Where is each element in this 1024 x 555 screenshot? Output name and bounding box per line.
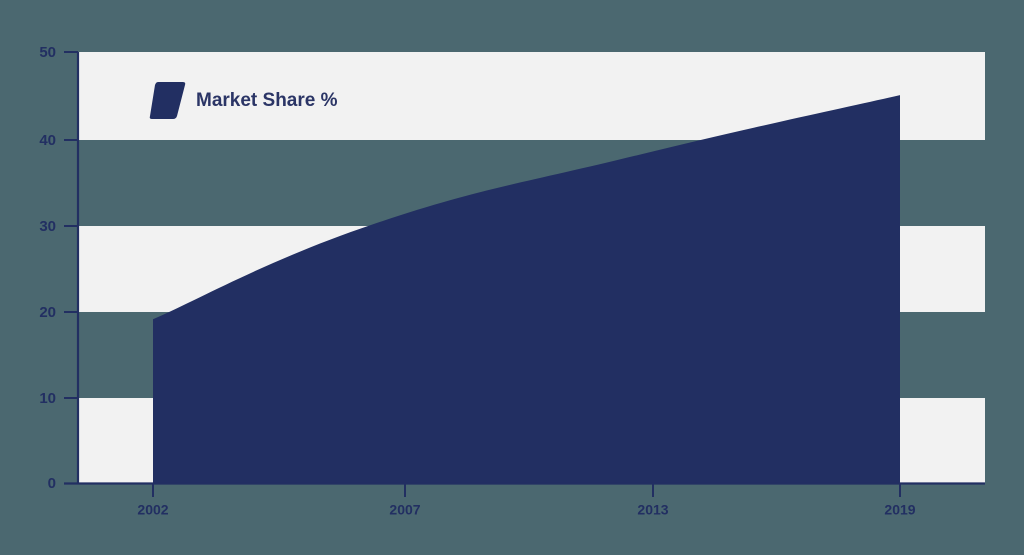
y-tick-label-40: 40 — [39, 132, 56, 149]
x-tick-label-2019: 2019 — [884, 501, 915, 517]
x-axis-labels: 2002 2007 2013 2019 — [137, 501, 915, 517]
x-axis-ticks — [153, 484, 900, 497]
y-axis-ticks — [64, 52, 78, 398]
x-tick-label-2002: 2002 — [137, 501, 168, 517]
y-tick-label-0: 0 — [48, 475, 56, 492]
legend-label-market-share: Market Share % — [196, 90, 338, 111]
area-chart: 50 40 30 20 10 0 2002 2007 2013 2019 Mar… — [0, 0, 1024, 555]
area-fill — [153, 95, 900, 483]
y-axis-labels: 50 40 30 20 10 0 — [39, 44, 56, 492]
x-tick-label-2013: 2013 — [637, 501, 668, 517]
y-tick-label-20: 20 — [39, 304, 56, 321]
series-market-share — [153, 95, 900, 483]
y-tick-label-50: 50 — [39, 44, 56, 61]
y-tick-label-30: 30 — [39, 218, 56, 235]
y-tick-label-10: 10 — [39, 390, 56, 407]
chart-canvas: 50 40 30 20 10 0 2002 2007 2013 2019 Mar… — [0, 0, 1024, 555]
x-tick-label-2007: 2007 — [389, 501, 420, 517]
